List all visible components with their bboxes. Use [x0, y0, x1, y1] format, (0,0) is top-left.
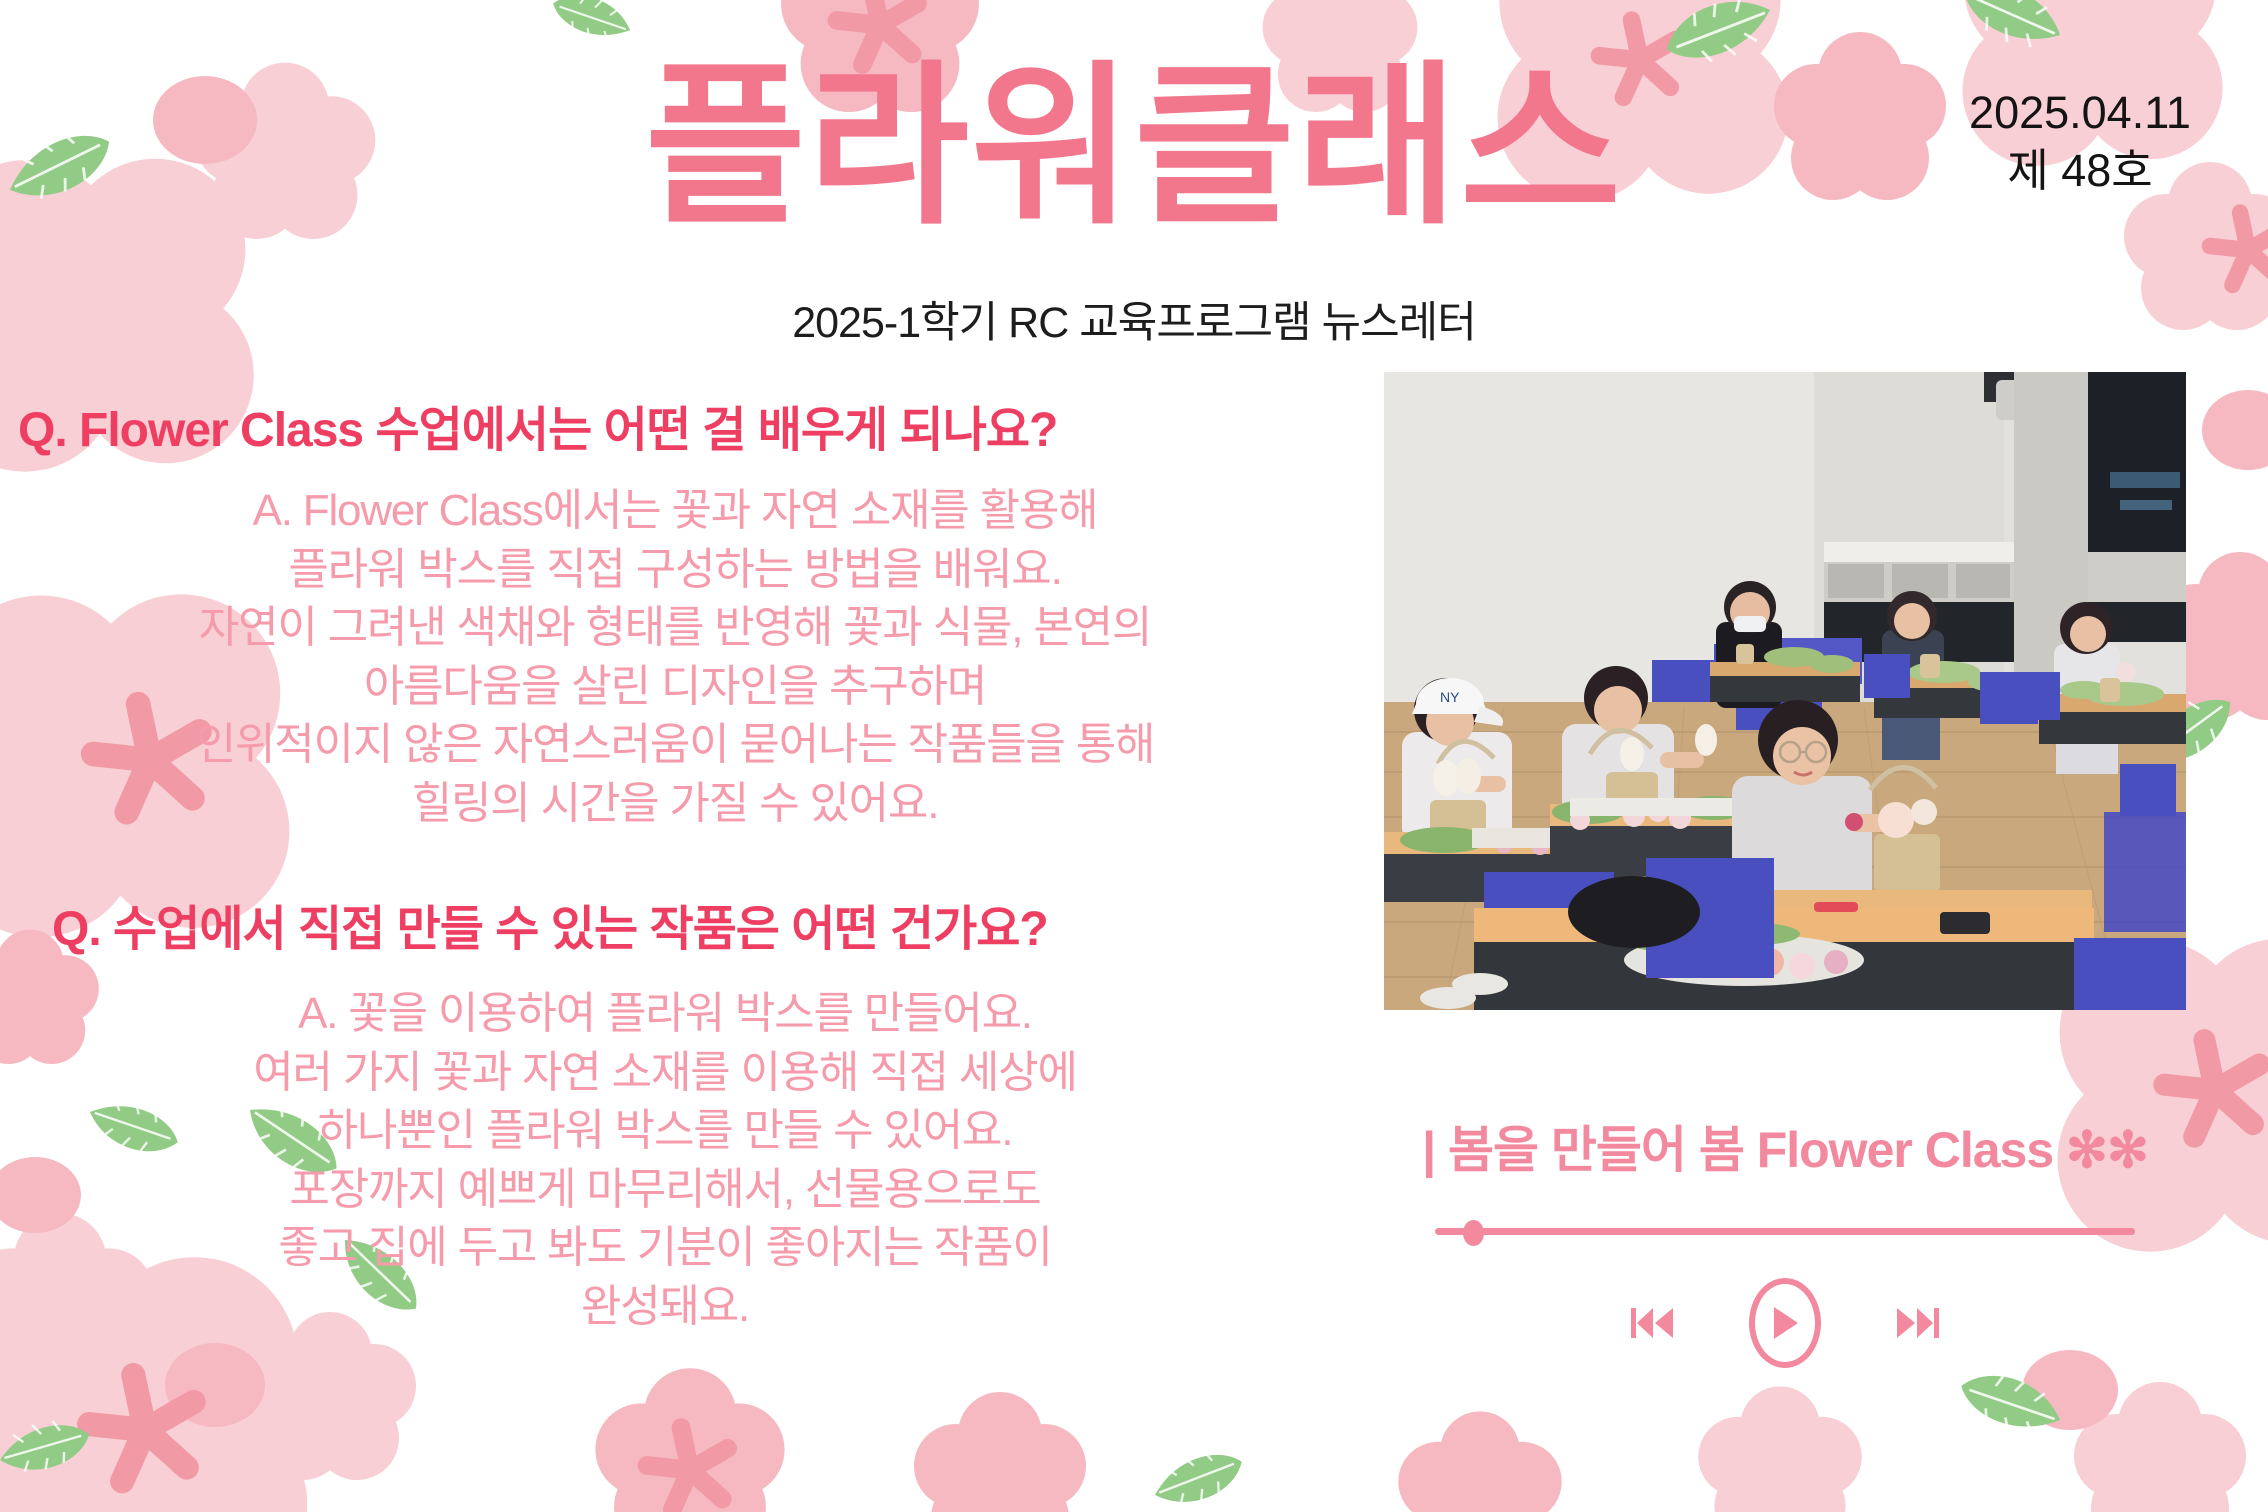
- play-button[interactable]: [1749, 1278, 1821, 1368]
- class-photo-image: NY: [1384, 372, 2186, 1010]
- answer-2-line: 포장까지 예쁘게 마무리해서, 선물용으로도: [120, 1161, 1210, 1220]
- player-controls: [1370, 1278, 2200, 1368]
- newsletter-poster: 플라워클래스 2025-1학기 RC 교육프로그램 뉴스레터 2025.04.1…: [0, 0, 2268, 1512]
- music-player: | 봄을 만들어 봄 Flower Class ✻✻: [1370, 1110, 2200, 1368]
- answer-2-line: 하나뿐인 플라워 박스를 만들 수 있어요.: [120, 1102, 1210, 1161]
- answer-1-line: 인위적이지 않은 자연스러움이 묻어나는 작품들을 통해: [40, 716, 1310, 775]
- question-2: Q. 수업에서 직접 만들 수 있는 작품은 어떤 건가요?: [0, 889, 1370, 959]
- issue-date: 2025.04.11: [1930, 85, 2230, 141]
- svg-text:NY: NY: [1440, 689, 1460, 705]
- skip-back-icon: [1629, 1303, 1675, 1343]
- page-subtitle: 2025-1학기 RC 교육프로그램 뉴스레터: [0, 288, 2268, 350]
- page-title: 플라워클래스: [0, 60, 2268, 235]
- answer-2-line: 여러 가지 꽃과 자연 소재를 이용해 직접 세상에: [120, 1044, 1210, 1103]
- class-photo: NY: [1384, 372, 2186, 1010]
- qa-section: Q. Flower Class 수업에서는 어떤 걸 배우게 되나요? A. F…: [0, 390, 1370, 1336]
- next-button[interactable]: [1895, 1303, 1941, 1343]
- issue-info: 2025.04.11 제 48호: [1930, 85, 2230, 202]
- answer-1-line: 아름다움을 살린 디자인을 추구하며: [40, 658, 1310, 717]
- previous-button[interactable]: [1629, 1303, 1675, 1343]
- answer-1-line: 자연이 그려낸 색채와 형태를 반영해 꽃과 식물, 본연의: [40, 599, 1310, 658]
- question-1: Q. Flower Class 수업에서는 어떤 걸 배우게 되나요?: [0, 390, 1370, 460]
- progress-bar[interactable]: [1435, 1220, 2135, 1242]
- answer-2-line: A. 꽃을 이용하여 플라워 박스를 만들어요.: [120, 985, 1210, 1044]
- skip-forward-icon: [1895, 1303, 1941, 1343]
- progress-track[interactable]: [1435, 1228, 2135, 1235]
- answer-1-line: 플라워 박스를 직접 구성하는 방법을 배워요.: [40, 541, 1310, 600]
- issue-number: 제 48호: [1930, 141, 2230, 202]
- answer-2-line: 좋고 집에 두고 봐도 기분이 좋아지는 작품이: [120, 1219, 1210, 1278]
- answer-2: A. 꽃을 이용하여 플라워 박스를 만들어요. 여러 가지 꽃과 자연 소재를…: [0, 985, 1370, 1336]
- answer-1: A. Flower Class에서는 꽃과 자연 소재를 활용해 플라워 박스를…: [0, 482, 1370, 833]
- player-track-title: | 봄을 만들어 봄 Flower Class ✻✻: [1370, 1110, 2200, 1182]
- progress-handle[interactable]: [1463, 1220, 1484, 1246]
- play-icon: [1770, 1305, 1800, 1341]
- answer-1-line: 힐링의 시간을 가질 수 있어요.: [40, 775, 1310, 834]
- answer-1-line: A. Flower Class에서는 꽃과 자연 소재를 활용해: [40, 482, 1310, 541]
- answer-2-line: 완성돼요.: [120, 1278, 1210, 1337]
